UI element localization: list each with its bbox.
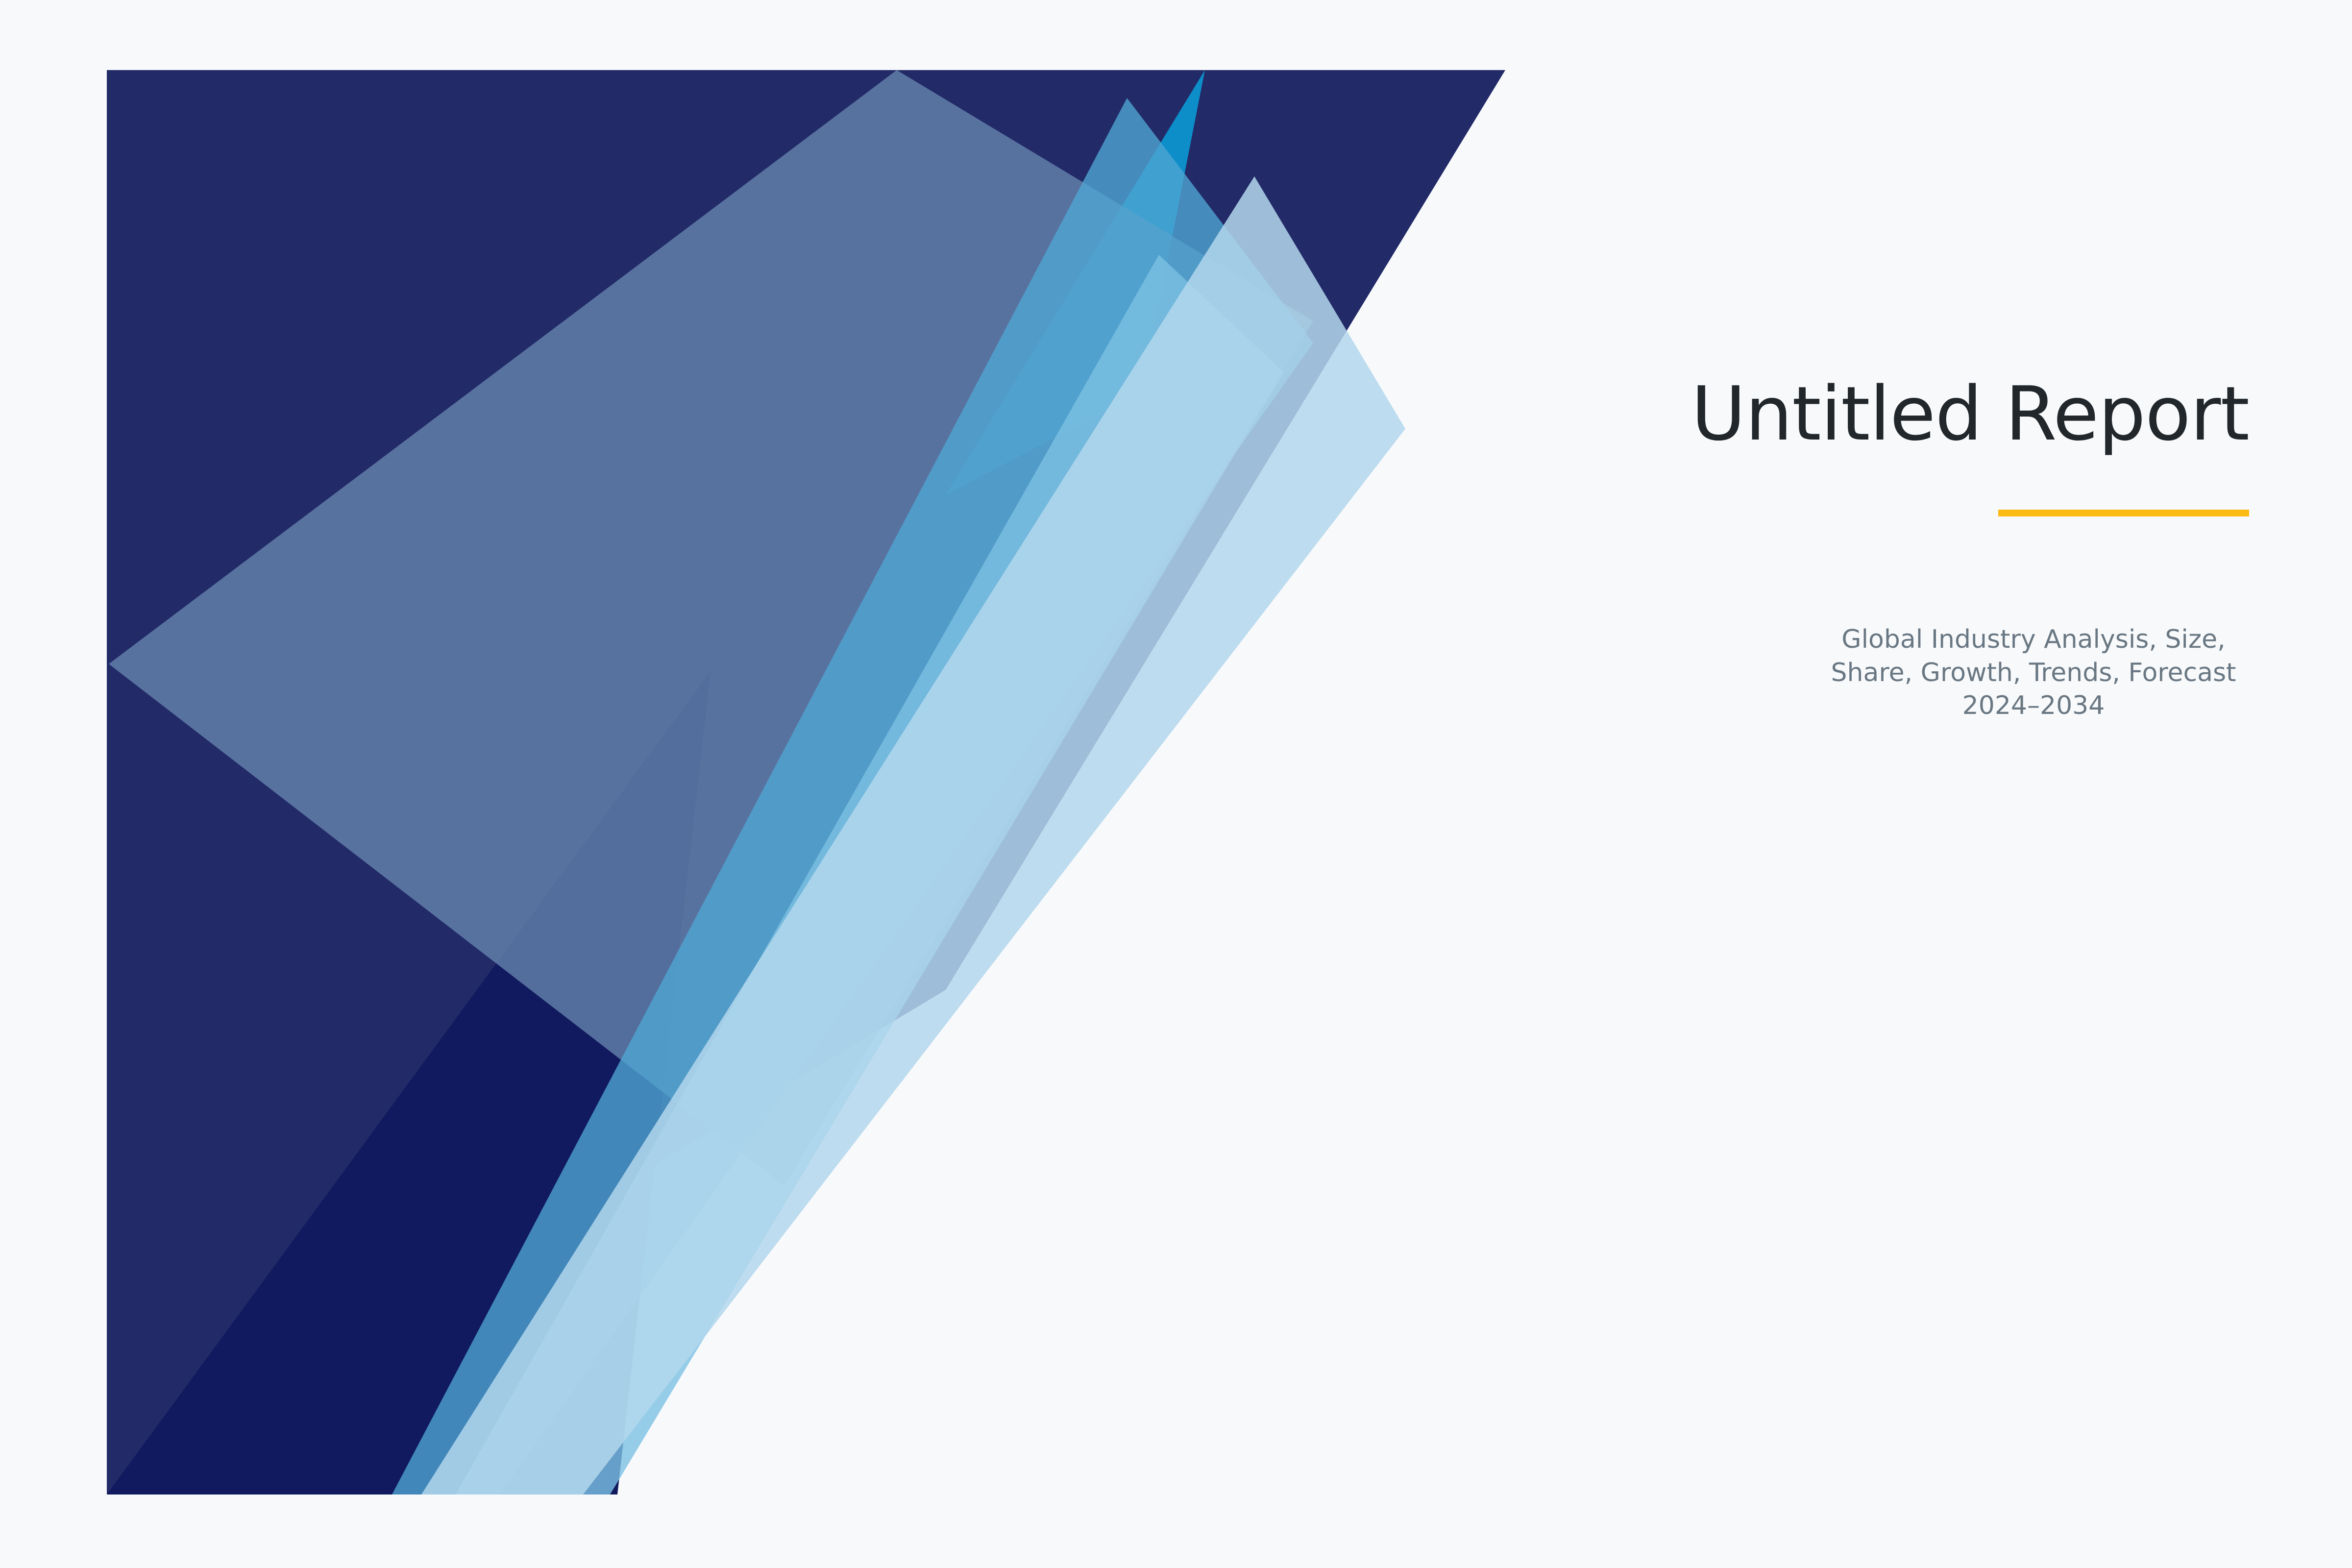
report-cover-page: Untitled Report Global Industry Analysis… [0, 0, 2352, 1568]
report-subtitle: Global Industry Analysis, Size, Share, G… [1818, 623, 2249, 723]
title-block: Untitled Report Global Industry Analysis… [1543, 372, 2249, 723]
cover-artwork [0, 0, 1568, 1568]
accent-rule [1998, 510, 2249, 516]
report-title: Untitled Report [1543, 372, 2249, 456]
